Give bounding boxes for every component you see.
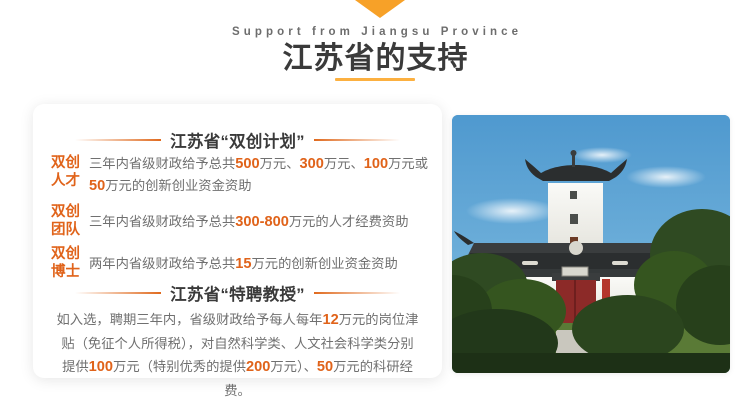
benefit-row-tag-line2: 团队 (51, 221, 84, 239)
benefit-row: 双创 团队 三年内省级财政给予总共300-800万元的人才经费资助 (51, 202, 431, 239)
benefit-row-tag: 双创 人才 (51, 153, 84, 190)
page-title: 江苏省的支持 (0, 42, 750, 76)
benefit-row-text: 两年内省级财政给予总共15万元的创新创业资金资助 (84, 244, 431, 275)
section-header-distinguished-professor: 江苏省“特聘教授” (33, 281, 442, 305)
rule-left-icon (75, 292, 161, 294)
highlight-number: 15 (235, 256, 251, 272)
benefit-row-text: 三年内省级财政给予总共300-800万元的人才经费资助 (84, 202, 431, 233)
building-illustration (452, 115, 730, 373)
benefit-row-tag-line2: 人才 (51, 172, 84, 190)
highlight-number: 50 (89, 178, 105, 194)
highlight-number: 12 (322, 312, 338, 328)
highlight-number: 500 (235, 156, 259, 172)
rule-right-icon (314, 292, 400, 294)
professor-paragraph: 如入选，聘期三年内，省级财政给予每人每年12万元的岗位津贴（免征个人所得税），对… (55, 308, 420, 402)
highlight-number: 300-800 (235, 214, 289, 230)
section-title: 江苏省“双创计划” (170, 128, 305, 152)
benefit-row-tag-line2: 博士 (51, 263, 84, 281)
page-header: Support from Jiangsu Province 江苏省的支持 (0, 0, 750, 96)
benefit-row-tag: 双创 博士 (51, 244, 84, 281)
benefit-row: 双创 人才 三年内省级财政给予总共500万元、300万元、100万元或50万元的… (51, 153, 431, 197)
triangle-down-icon (355, 0, 405, 18)
highlight-number: 100 (364, 156, 388, 172)
campus-building-photo (452, 115, 730, 373)
section-title: 江苏省“特聘教授” (170, 281, 305, 305)
highlight-number: 200 (246, 359, 270, 375)
rule-left-icon (75, 139, 161, 141)
highlight-number: 100 (89, 359, 113, 375)
info-card: 江苏省“双创计划” 双创 人才 三年内省级财政给予总共500万元、300万元、1… (33, 104, 442, 378)
benefit-row-tag: 双创 团队 (51, 202, 84, 239)
header-eyebrow: Support from Jiangsu Province (0, 26, 750, 38)
highlight-number: 50 (317, 359, 333, 375)
benefit-row-tag-line1: 双创 (51, 245, 84, 263)
section-header-shuangchuang-plan: 江苏省“双创计划” (33, 128, 442, 152)
benefit-row-tag-line1: 双创 (51, 154, 84, 172)
benefit-row-tag-line1: 双创 (51, 203, 84, 221)
benefit-row: 双创 博士 两年内省级财政给予总共15万元的创新创业资金资助 (51, 244, 431, 281)
rule-right-icon (314, 139, 400, 141)
benefit-row-text: 三年内省级财政给予总共500万元、300万元、100万元或50万元的创新创业资金… (84, 153, 431, 197)
benefit-row-list: 双创 人才 三年内省级财政给予总共500万元、300万元、100万元或50万元的… (51, 153, 431, 286)
title-underline (335, 78, 415, 81)
highlight-number: 300 (300, 156, 324, 172)
